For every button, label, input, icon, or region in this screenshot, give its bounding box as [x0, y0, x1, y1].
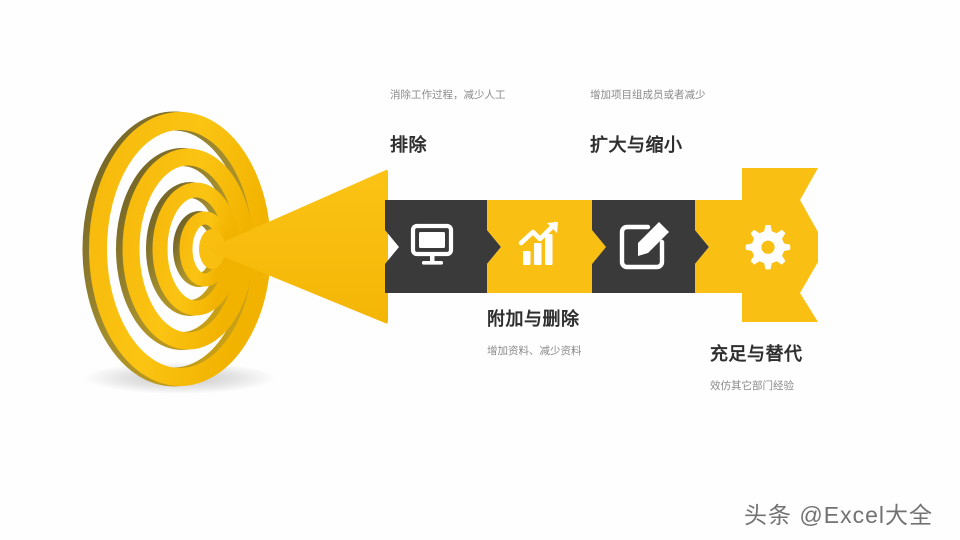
callout-substitute-desc: 效仿其它部门经验: [710, 379, 860, 394]
infographic-canvas: 消除工作过程，减少人工 排除 增加项目组成员或者减少 扩大与缩小 附加与删除 增…: [0, 0, 960, 540]
callout-substitute-title: 充足与替代: [710, 340, 860, 366]
callout-exclude-desc: 消除工作过程，减少人工: [390, 88, 518, 103]
callout-substitute: 充足与替代 效仿其它部门经验: [710, 340, 860, 394]
watermark: 头条 @Excel大全: [744, 496, 933, 530]
callout-exclude: 消除工作过程，减少人工 排除: [390, 88, 518, 157]
callout-append-desc: 增加资料、减少资料: [487, 344, 637, 359]
gear-icon: [746, 225, 790, 269]
callout-scale: 增加项目组成员或者减少 扩大与缩小: [590, 88, 718, 157]
callout-append-title: 附加与删除: [487, 305, 637, 331]
callout-scale-desc: 增加项目组成员或者减少: [590, 88, 718, 103]
infographic-artwork: [0, 0, 960, 540]
callout-append: 附加与删除 增加资料、减少资料: [487, 305, 637, 359]
callout-scale-title: 扩大与缩小: [590, 131, 718, 157]
callout-exclude-title: 排除: [390, 131, 518, 157]
